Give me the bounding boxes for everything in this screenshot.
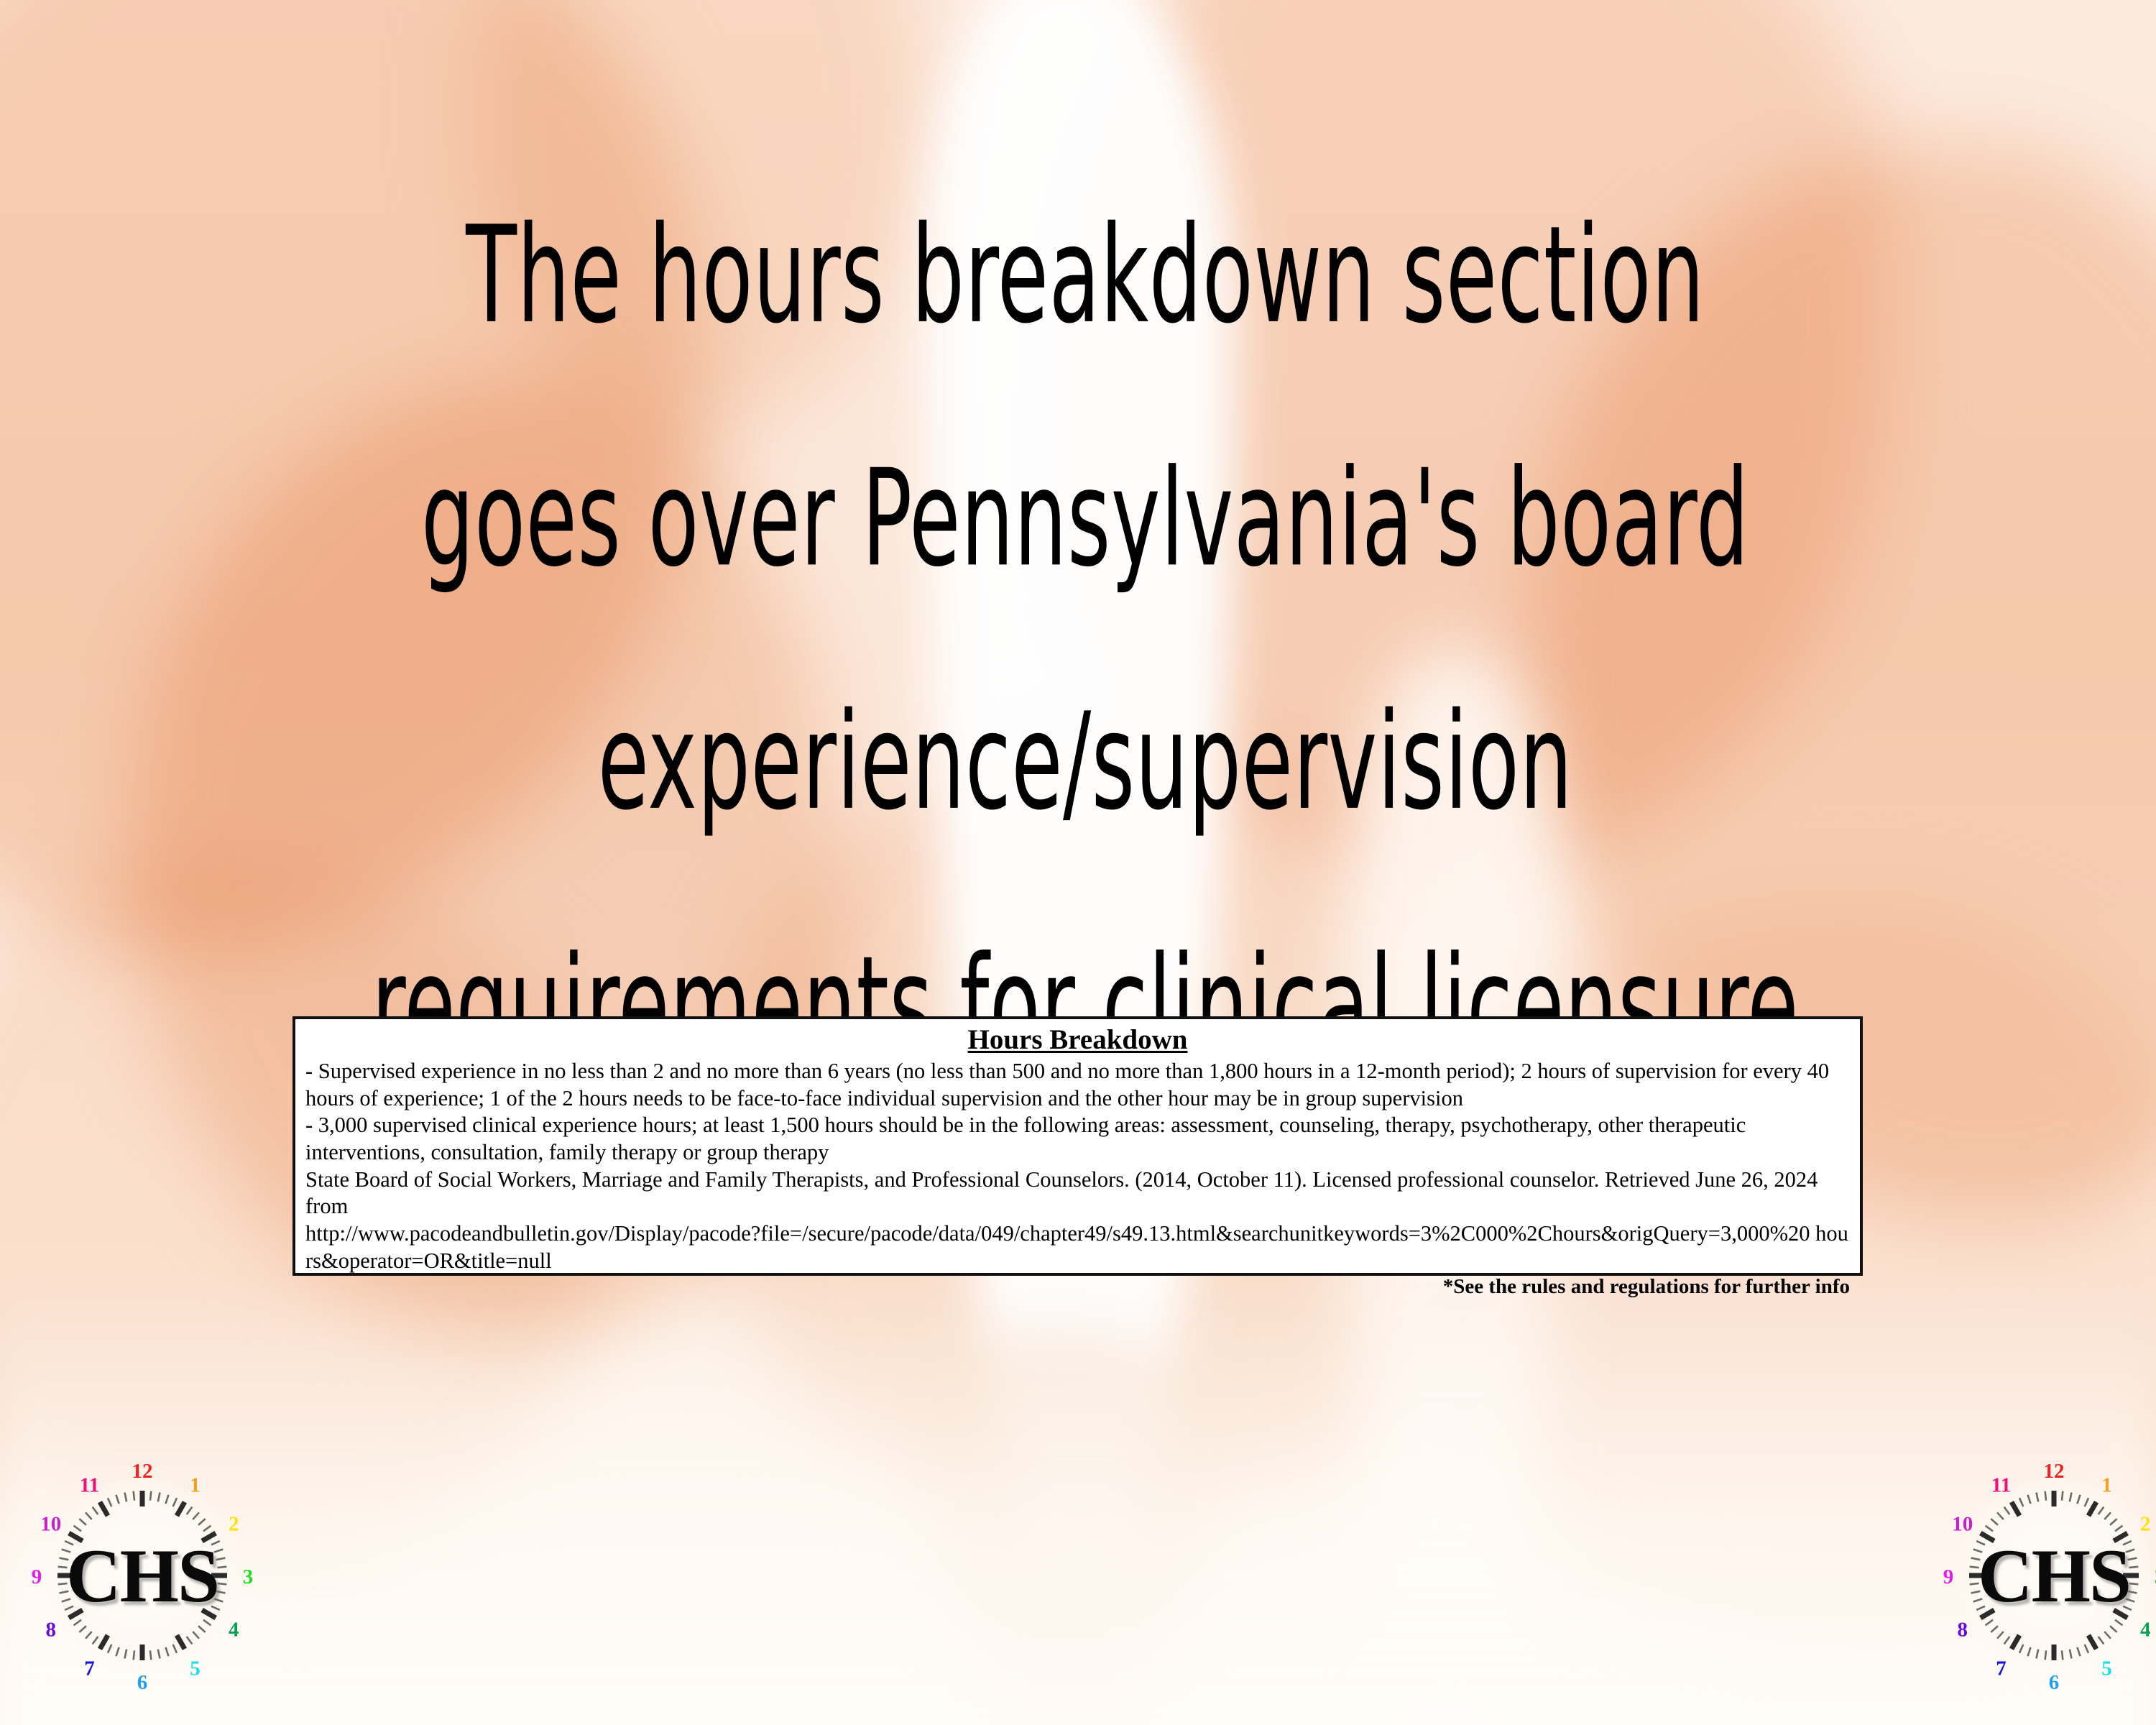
clock-numeral: 8 <box>45 1619 56 1642</box>
clock-numeral: 9 <box>1943 1565 1954 1588</box>
hours-breakdown-box: Hours Breakdown - Supervised experience … <box>292 1016 1863 1276</box>
clock-numeral: 4 <box>2140 1619 2151 1642</box>
chs-clock-logo-right: CHS 121234567891011 <box>1932 1453 2156 1698</box>
hours-bullet-2: - 3,000 supervised clinical experience h… <box>305 1112 1850 1166</box>
clock-numeral: 2 <box>2140 1513 2151 1536</box>
clock-numeral: 6 <box>137 1671 148 1694</box>
slide-canvas: The hours breakdown section goes over Pe… <box>0 0 2156 1725</box>
hours-citation: State Board of Social Workers, Marriage … <box>305 1167 1850 1220</box>
clock-numeral: 12 <box>2044 1460 2065 1483</box>
clock-numeral: 12 <box>132 1460 153 1483</box>
background-bottom-fade <box>0 1279 2156 1725</box>
hours-breakdown-body: - Supervised experience in no less than … <box>305 1058 1850 1274</box>
clock-numeral: 11 <box>80 1474 99 1497</box>
slide-title: The hours breakdown section goes over Pe… <box>337 155 1833 1128</box>
clock-numeral: 9 <box>32 1565 42 1588</box>
hours-footnote: *See the rules and regulations for furth… <box>1443 1274 1850 1300</box>
chs-clock-logo-left: CHS 121234567891011 <box>20 1453 264 1698</box>
clock-numerals: 121234567891011 <box>1932 1453 2156 1698</box>
clock-numeral: 1 <box>190 1474 201 1497</box>
clock-numeral: 2 <box>229 1513 239 1536</box>
clock-numeral: 7 <box>84 1657 95 1680</box>
clock-numeral: 10 <box>1952 1513 1973 1536</box>
clock-numeral: 11 <box>1991 1474 2011 1497</box>
clock-numeral: 5 <box>2101 1657 2112 1680</box>
clock-numeral: 5 <box>190 1657 201 1680</box>
clock-numeral: 10 <box>40 1513 61 1536</box>
clock-numeral: 4 <box>229 1619 239 1642</box>
clock-numeral: 7 <box>1996 1657 2007 1680</box>
hours-breakdown-heading: Hours Breakdown <box>305 1025 1850 1055</box>
clock-numerals: 121234567891011 <box>20 1453 264 1698</box>
clock-numeral: 1 <box>2101 1474 2112 1497</box>
clock-numeral: 6 <box>2049 1671 2060 1694</box>
hours-source-url[interactable]: http://www.pacodeandbulletin.gov/Display… <box>305 1220 1850 1274</box>
clock-numeral: 8 <box>1957 1619 1968 1642</box>
clock-numeral: 3 <box>243 1565 254 1588</box>
hours-bullet-1: - Supervised experience in no less than … <box>305 1058 1850 1112</box>
